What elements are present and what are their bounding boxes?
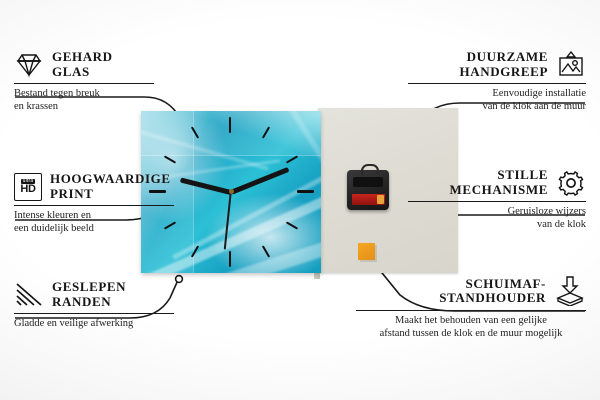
feature-description: Gladde en veilige afwerking: [14, 318, 174, 331]
feature-description: Bestand tegen breuken krassen: [14, 88, 154, 113]
divider: [356, 310, 586, 311]
feature-description: Eenvoudige installatievan de klok aan de…: [408, 88, 586, 113]
mechanism-slot: [353, 177, 383, 187]
feature-hoogwaardige-print: ultra HD HOOGWAARDIGEPRINT Intense kleur…: [14, 172, 174, 235]
divider: [408, 83, 586, 84]
clock-tick-5: [262, 245, 270, 257]
feature-title: STILLEMECHANISME: [450, 168, 548, 197]
feature-title: DUURZAMEHANDGREEP: [460, 50, 548, 79]
ultra-hd-icon: ultra HD: [14, 173, 42, 201]
feature-description: Intense kleuren eneen duidelijk beeld: [14, 210, 174, 235]
divider: [14, 83, 154, 84]
clock-minute-hand: [230, 167, 289, 195]
foam-spacer-pad: [358, 243, 375, 260]
feature-schuimafstandhouder: SCHUIMAF-STANDHOUDER Maakt het behouden …: [356, 276, 586, 340]
connector-dot-geslepen-randen: [176, 276, 183, 283]
feature-gehard-glas: GEHARDGLAS Bestand tegen breuken krassen: [14, 50, 154, 113]
clock-mechanism: [347, 170, 389, 210]
divider: [14, 313, 174, 314]
glass-panel-seam: [193, 111, 194, 273]
spacer-press-icon: [554, 276, 586, 306]
feature-title: SCHUIMAF-STANDHOUDER: [439, 277, 546, 306]
beveled-edge-icon: [14, 282, 44, 308]
feature-title: HOOGWAARDIGEPRINT: [50, 172, 171, 201]
clock-tick-4: [286, 221, 298, 229]
feature-duurzame-handgreep: DUURZAMEHANDGREEP Eenvoudige installatie…: [408, 50, 586, 113]
product-infographic: GEHARDGLAS Bestand tegen breuken krassen…: [0, 0, 600, 400]
divider: [408, 201, 586, 202]
clock-tick-12: [229, 117, 231, 133]
feature-description: Maakt het behouden van een gelijkeafstan…: [356, 315, 586, 340]
clock-tick-2: [286, 155, 298, 163]
battery: [352, 194, 385, 205]
feature-geslepen-randen: GESLEPENRANDEN Gladde en veilige afwerki…: [14, 280, 174, 331]
feature-stille-mechanisme: STILLEMECHANISME Geruisloze wijzersvan d…: [408, 168, 586, 231]
feature-title: GESLEPENRANDEN: [52, 280, 126, 309]
diamond-icon: [14, 52, 44, 78]
gear-icon: [556, 169, 586, 197]
feature-description: Geruisloze wijzersvan de klok: [408, 206, 586, 231]
glass-panel-tint: [141, 111, 321, 155]
hanging-picture-icon: [556, 51, 586, 79]
clock-tick-6: [229, 251, 231, 267]
feature-title: GEHARDGLAS: [52, 50, 113, 79]
clock-tick-3: [297, 190, 314, 193]
mechanism-hook-icon: [361, 164, 379, 175]
clock-center-cap: [229, 189, 234, 194]
divider: [14, 205, 174, 206]
